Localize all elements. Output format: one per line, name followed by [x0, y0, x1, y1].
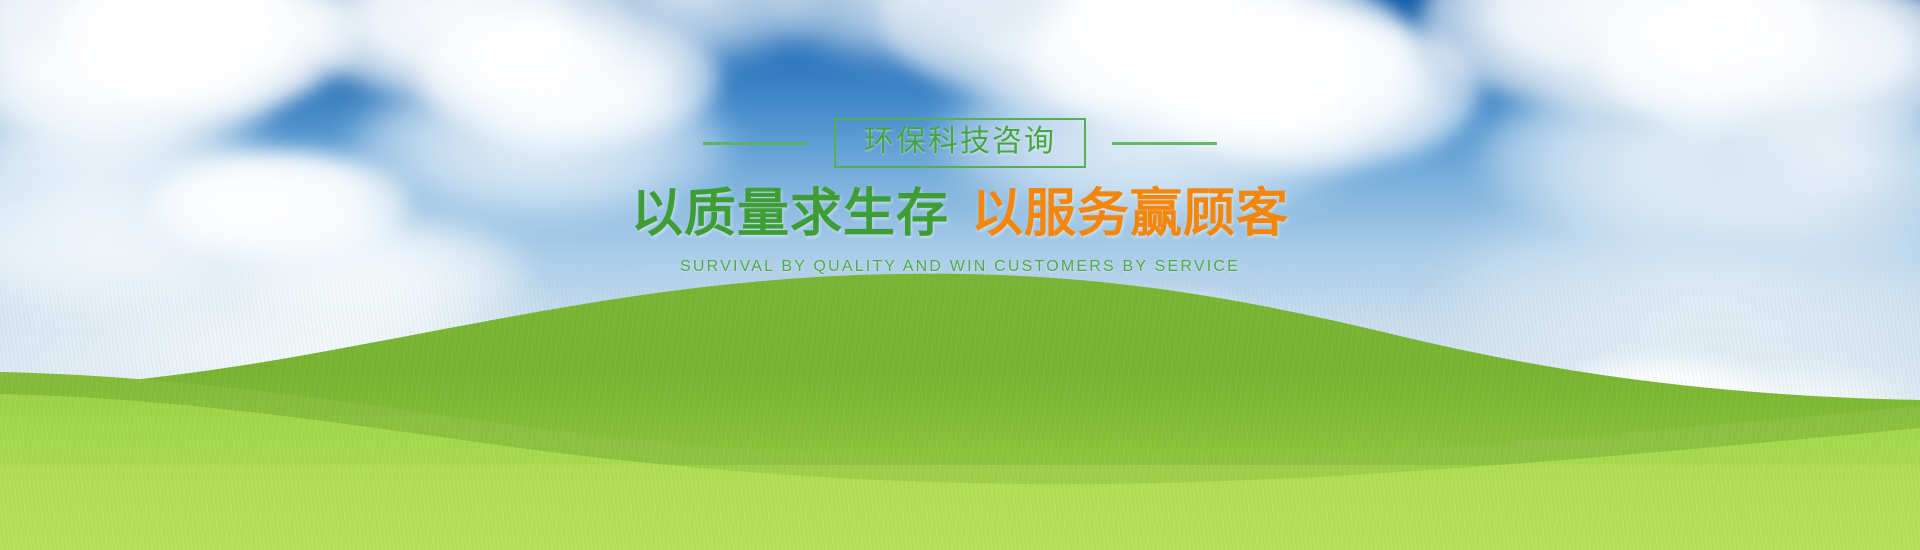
- rule-left-icon: [703, 142, 808, 145]
- subline-english: SURVIVAL BY QUALITY AND WIN CUSTOMERS BY…: [680, 258, 1240, 276]
- headline-part-orange: 以服务赢顾客: [971, 184, 1289, 245]
- hills-layer: [0, 250, 1920, 550]
- promo-banner: 环保科技咨询 以质量求生存 以服务赢顾客 SURVIVAL BY QUALITY…: [0, 0, 1920, 550]
- meadow-highlight: [0, 465, 1920, 550]
- eyebrow-label: 环保科技咨询: [864, 125, 1056, 158]
- eyebrow-row: 环保科技咨询: [703, 118, 1217, 168]
- headline-part-green: 以质量求生存: [631, 184, 949, 245]
- hills-svg: [0, 250, 1920, 550]
- eyebrow-box: 环保科技咨询: [834, 118, 1086, 168]
- rule-right-icon: [1112, 142, 1217, 145]
- headline: 以质量求生存 以服务赢顾客: [631, 184, 1289, 245]
- banner-content: 环保科技咨询 以质量求生存 以服务赢顾客 SURVIVAL BY QUALITY…: [0, 118, 1920, 276]
